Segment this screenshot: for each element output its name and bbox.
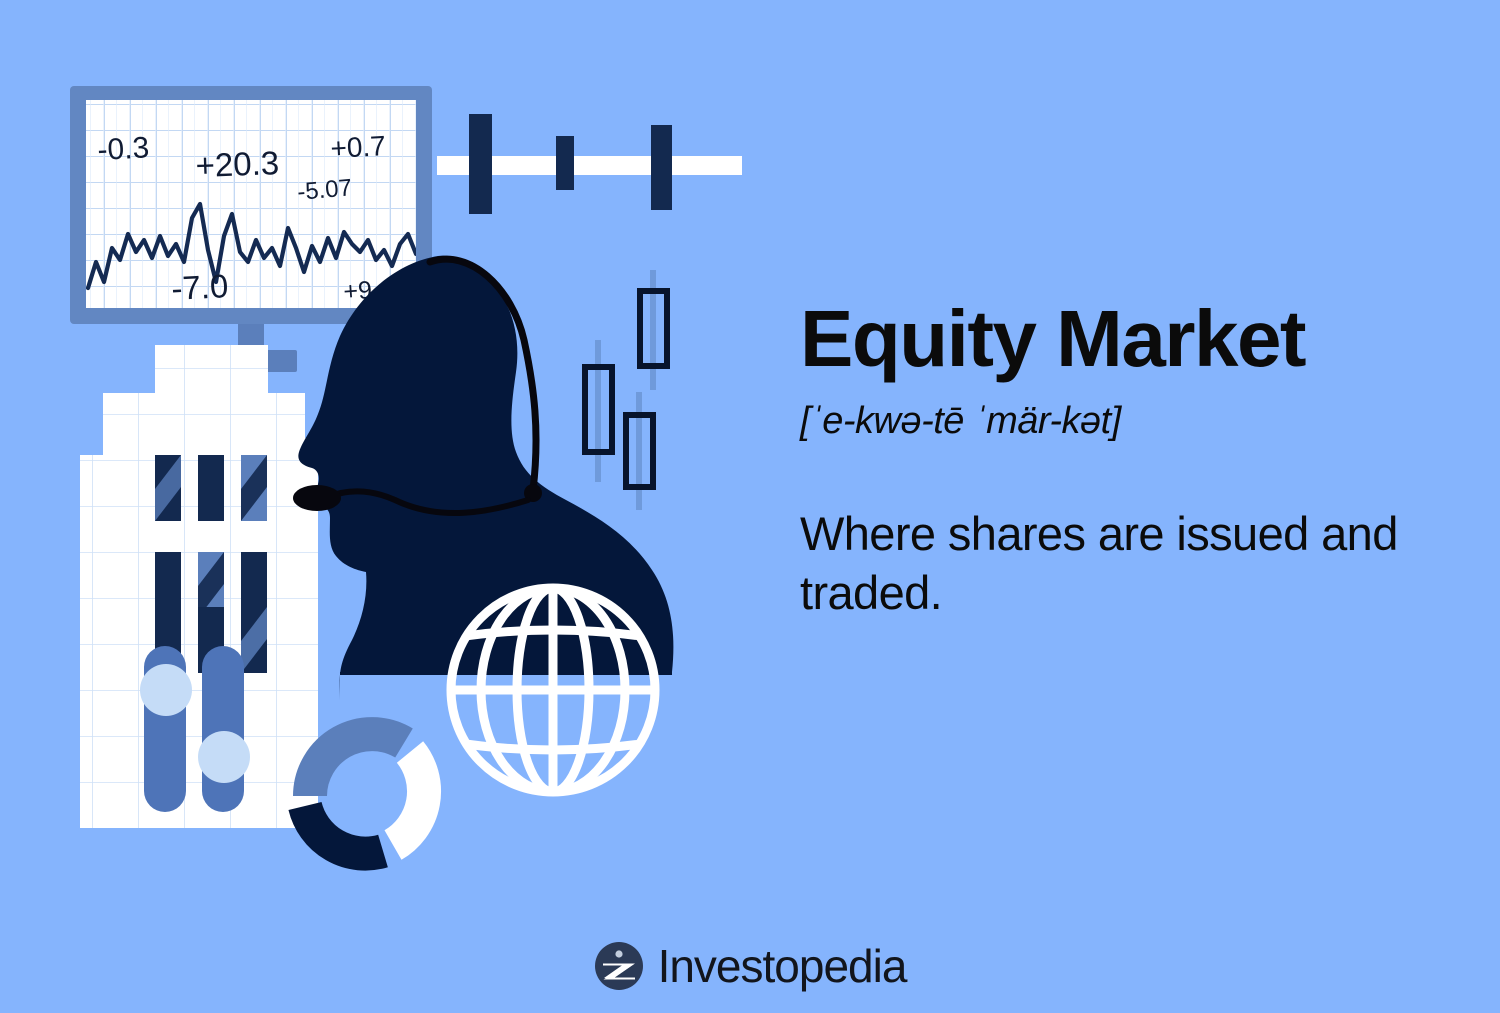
screen-value-0: -0.3 [97, 131, 150, 167]
pronunciation-text: [ˈe-kwə-tē ˈmär-kət] [800, 400, 1440, 443]
definition-text-block: Equity Market [ˈe-kwə-tē ˈmär-kət] Where… [800, 300, 1440, 622]
slider-track-2[interactable] [202, 646, 244, 812]
donut-segment-slate [310, 734, 404, 796]
infographic-canvas: -0.3 +20.3 +0.7 -5.07 -7.0 +9 [0, 0, 1500, 1013]
headset-microphone [293, 485, 341, 511]
building-window-row-1 [155, 455, 267, 521]
screen-value-3: -5.07 [296, 174, 353, 206]
screen-value-1: +20.3 [195, 144, 280, 184]
ohlc-bar-1 [469, 114, 492, 214]
illustration-graphic: -0.3 +20.3 +0.7 -5.07 -7.0 +9 [0, 0, 780, 920]
screen-value-4: -7.0 [170, 267, 229, 307]
page-title: Equity Market [800, 300, 1440, 378]
ohlc-bar-3 [651, 125, 672, 210]
slider-knob-1[interactable] [140, 664, 192, 716]
investopedia-bolt-icon [594, 941, 644, 991]
candlestick-group [585, 270, 667, 510]
screen-value-2: +0.7 [330, 130, 387, 164]
ohlc-bar-2 [556, 136, 574, 190]
definition-text: Where shares are issued and traded. [800, 505, 1420, 622]
slider-knob-2[interactable] [198, 731, 250, 783]
donut-segment-navy [305, 806, 383, 854]
office-building [80, 345, 318, 828]
investopedia-logo: Investopedia [0, 941, 1500, 991]
donut-segment-white [393, 752, 424, 845]
investopedia-wordmark: Investopedia [658, 943, 907, 989]
donut-chart [305, 734, 424, 853]
ohlc-bar-row [437, 114, 742, 214]
